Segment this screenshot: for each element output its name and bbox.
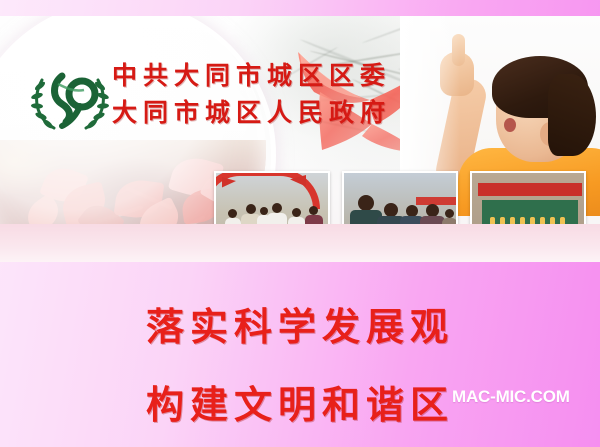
slogan-area: 落实科学发展观 构建文明和谐区 [0,262,600,447]
header-banner: 中共大同市城区区委 大同市城区人民政府 [0,16,600,262]
org-line-1: 中共大同市城区区委 [112,60,391,92]
banner-bottom-strip [0,224,600,262]
slogan-line-1: 落实科学发展观 [146,296,454,351]
government-emblem-icon [28,60,112,140]
site-watermark: MAC-MIC.COM [452,387,570,407]
poster-canvas: 中共大同市城区区委 大同市城区人民政府 [0,0,600,447]
org-line-2: 大同市城区人民政府 [112,97,391,129]
organization-name-block: 中共大同市城区区委 大同市城区人民政府 [112,60,391,129]
slogan-line-2: 构建文明和谐区 [146,374,454,429]
